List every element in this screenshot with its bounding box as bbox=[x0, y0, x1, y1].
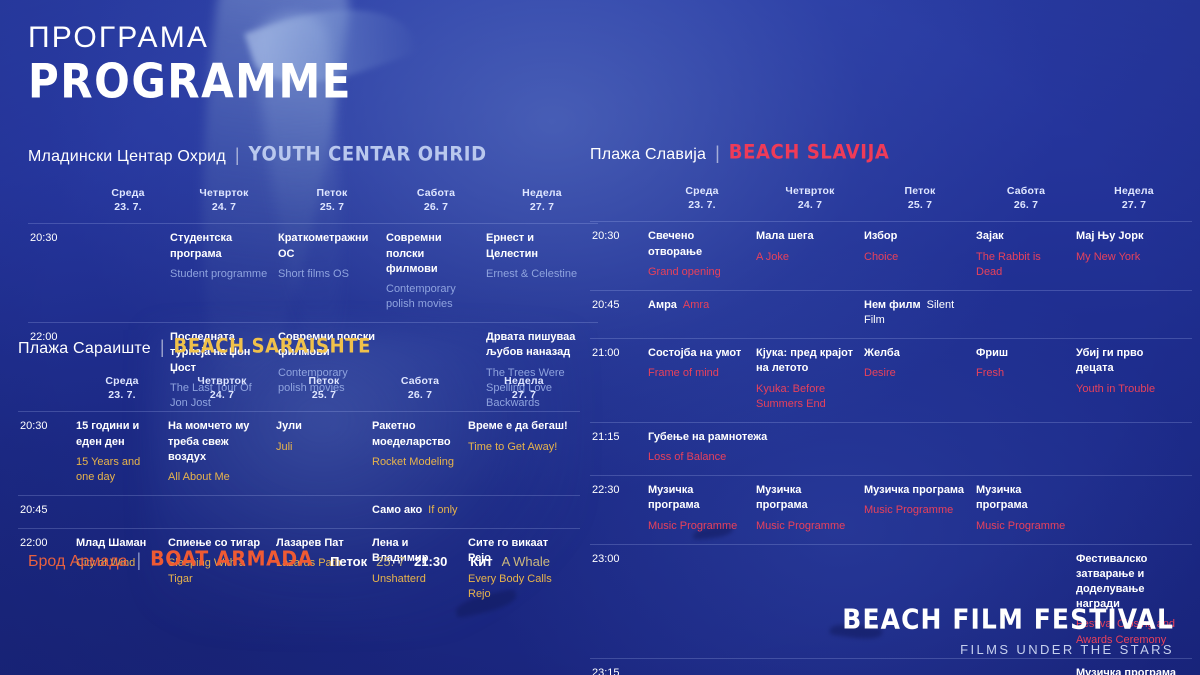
film-title-en: Short films OS bbox=[278, 267, 376, 282]
film-title-en: Music Programme bbox=[864, 503, 966, 518]
schedule-row: 20:3015 години и еден ден15 Years and on… bbox=[18, 412, 580, 496]
film-title-en: Every Body Calls Rejo bbox=[468, 572, 570, 602]
schedule-row: 20:30Студентска програмаStudent programm… bbox=[28, 224, 598, 323]
schedule-header-row: Среда23. 7.Четврток24. 7Петок25. 7Сабота… bbox=[590, 184, 1192, 222]
schedule-cell: ЗајакThe Rabbit is Dead bbox=[976, 222, 1076, 291]
schedule-cell: На момчето му треба свеж воздухAll About… bbox=[168, 412, 276, 496]
schedule-cell: Студентска програмаStudent programme bbox=[170, 224, 278, 323]
schedule-cell bbox=[756, 290, 864, 338]
schedule-time: 20:30 bbox=[590, 222, 648, 291]
day-date: 23. 7. bbox=[648, 198, 756, 212]
film-title-mk: Музичка програма bbox=[648, 483, 746, 513]
day-name: Петок bbox=[276, 374, 372, 388]
schedule-cell: Свечено отворањеGrand opening bbox=[648, 222, 756, 291]
film-title-mk: Ракетно моеделарство bbox=[372, 419, 458, 449]
page-title-mk: ПРОГРАМА bbox=[28, 22, 352, 54]
film-title-en: Ernest & Celestine bbox=[486, 267, 588, 282]
schedule-cell: 15 години и еден ден15 Years and one day bbox=[76, 412, 168, 496]
film-title-en: Juli bbox=[276, 440, 362, 455]
schedule-time: 23:00 bbox=[590, 544, 648, 658]
schedule-header-row: Среда23. 7.Четврток24. 7Петок25. 7Сабота… bbox=[18, 374, 580, 412]
schedule-cell bbox=[1076, 476, 1192, 545]
schedule-cell: Музичка програмаMusic Programme bbox=[1076, 658, 1192, 675]
day-date: 27. 7 bbox=[468, 388, 580, 402]
film-title-mk: Избор bbox=[864, 229, 966, 244]
venue-name-mk: Плажа Сараиште bbox=[18, 340, 151, 358]
day-date: 26. 7 bbox=[386, 200, 486, 214]
day-name: Среда bbox=[76, 374, 168, 388]
film-title-mk: Совремни полски филмови bbox=[386, 231, 476, 277]
schedule-time: 20:45 bbox=[590, 290, 648, 338]
film-title-en: Loss of Balance bbox=[648, 450, 1182, 465]
day-name: Четврток bbox=[170, 186, 278, 200]
schedule-header-row: Среда23. 7.Четврток24. 7Петок25. 7Сабота… bbox=[28, 186, 598, 224]
column-header-day: Среда23. 7. bbox=[648, 184, 756, 222]
schedule-cell: Ракетно моеделарствоRocket Modeling bbox=[372, 412, 468, 496]
column-header-day: Петок25. 7 bbox=[278, 186, 386, 224]
schedule-cell: ИзборChoice bbox=[864, 222, 976, 291]
column-header-day: Петок25. 7 bbox=[864, 184, 976, 222]
day-date: 26. 7 bbox=[976, 198, 1076, 212]
festival-logo: BEACH FILM FESTIVAL FILMS UNDER THE STAR… bbox=[842, 606, 1174, 657]
film-title-en: Music Programme bbox=[648, 519, 746, 534]
venue-name-en: BEACH SARAISHTE bbox=[174, 335, 371, 358]
schedule-row: 22:30Музичка програмаMusic ProgrammeМузи… bbox=[590, 476, 1192, 545]
column-header-day: Среда23. 7. bbox=[76, 374, 168, 412]
schedule-time: 23:15 bbox=[590, 658, 648, 675]
film-title-en: 15 Years and one day bbox=[76, 455, 158, 485]
schedule-time: 21:15 bbox=[590, 422, 648, 475]
schedule-cell bbox=[86, 224, 170, 323]
venue-name-en: YOUTH CENTAR OHRID bbox=[249, 143, 487, 166]
column-header-day: Сабота26. 7 bbox=[372, 374, 468, 412]
day-name: Недела bbox=[1076, 184, 1192, 198]
film-title-mk: Желба bbox=[864, 346, 966, 361]
day-date: 26. 7 bbox=[372, 388, 468, 402]
boat-armada-line: Брод Армада | BOAT ARMADA Петок 25. 7 21… bbox=[28, 549, 550, 571]
column-header-day: Недела27. 7 bbox=[486, 186, 598, 224]
column-header-time bbox=[18, 374, 76, 412]
film-title-mk: Амра bbox=[648, 299, 677, 311]
film-title-mk: Зајак bbox=[976, 229, 1066, 244]
schedule-cell: Време е да бегаш!Time to Get Away! bbox=[468, 412, 580, 496]
film-title-mk: Нем филм bbox=[864, 299, 921, 311]
venue-heading-slavija: Плажа Славија|BEACH SLAVIJA bbox=[590, 143, 1178, 164]
day-date: 24. 7 bbox=[168, 388, 276, 402]
film-title-en: Desire bbox=[864, 366, 966, 381]
boat-date: 25. 7 bbox=[376, 554, 405, 569]
page-title-en: PROGRAMME bbox=[28, 56, 352, 107]
film-title-mk: Губење на рамнотежа bbox=[648, 430, 1182, 445]
boat-time: 21:30 bbox=[414, 554, 447, 569]
film-title-mk: 15 години и еден ден bbox=[76, 419, 158, 449]
venue-block-beach-slavija: Плажа Славија|BEACH SLAVIJAСреда23. 7.Че… bbox=[590, 143, 1178, 675]
venue-name-mk: Младински Центар Охрид bbox=[28, 148, 226, 166]
film-title-en: Fresh bbox=[976, 366, 1066, 381]
schedule-cell bbox=[648, 658, 756, 675]
film-title-mk: Јули bbox=[276, 419, 362, 434]
schedule-cell bbox=[468, 496, 580, 529]
film-title-mk: Фриш bbox=[976, 346, 1066, 361]
venue-name-mk: Плажа Славија bbox=[590, 146, 706, 164]
schedule-row: 20:30Свечено отворањеGrand openingМала ш… bbox=[590, 222, 1192, 291]
film-title-en: The Rabbit is Dead bbox=[976, 250, 1066, 280]
film-title-en: Kyuka: Before Summers End bbox=[756, 382, 854, 412]
film-title-en: Time to Get Away! bbox=[468, 440, 570, 455]
schedule-cell bbox=[76, 496, 168, 529]
film-title-mk: Музичка програма bbox=[864, 483, 966, 498]
schedule-cell: Мај Њу ЈоркMy New York bbox=[1076, 222, 1192, 291]
schedule-cell: ЖелбаDesire bbox=[864, 339, 976, 423]
schedule-cell: Музичка програмаMusic Programme bbox=[648, 476, 756, 545]
schedule-time: 21:00 bbox=[590, 339, 648, 423]
film-title-en: My New York bbox=[1076, 250, 1182, 265]
film-title-en: Music Programme bbox=[756, 519, 854, 534]
film-title-en: Choice bbox=[864, 250, 966, 265]
film-title-en: Grand opening bbox=[648, 265, 746, 280]
film-title-mk: Кјука: пред крајот на летото bbox=[756, 346, 854, 376]
schedule-cell bbox=[756, 658, 864, 675]
festival-logo-title: BEACH FILM FESTIVAL bbox=[842, 603, 1174, 635]
column-header-day: Сабота26. 7 bbox=[976, 184, 1076, 222]
page-header: ПРОГРАМА PROGRAMME bbox=[28, 22, 352, 101]
film-title-en: Student programme bbox=[170, 267, 268, 282]
schedule-cell bbox=[976, 658, 1076, 675]
venue-separator: | bbox=[160, 337, 165, 358]
column-header-time bbox=[28, 186, 86, 224]
film-title-en: A Joke bbox=[756, 250, 854, 265]
schedule-row: 21:00Состојба на умотFrame of mindКјука:… bbox=[590, 339, 1192, 423]
boat-day: Петок bbox=[330, 554, 367, 569]
schedule-cell: Само акоIf only bbox=[372, 496, 468, 529]
schedule-time: 20:30 bbox=[18, 412, 76, 496]
boat-name-en: BOAT ARMADA bbox=[150, 547, 313, 571]
day-date: 24. 7 bbox=[170, 200, 278, 214]
schedule-cell: Мала шегаA Joke bbox=[756, 222, 864, 291]
day-name: Среда bbox=[648, 184, 756, 198]
schedule-cell: Ернест и ЦелестинErnest & Celestine bbox=[486, 224, 598, 323]
film-title-mk: Музичка програма bbox=[976, 483, 1066, 513]
programme-poster: ПРОГРАМА PROGRAMME Младински Центар Охри… bbox=[0, 0, 1200, 675]
column-header-day: Четврток24. 7 bbox=[756, 184, 864, 222]
column-header-day: Четврток24. 7 bbox=[168, 374, 276, 412]
film-title-en: Amra bbox=[683, 299, 709, 311]
film-title-mk: Мај Њу Јорк bbox=[1076, 229, 1182, 244]
column-header-day: Четврток24. 7 bbox=[170, 186, 278, 224]
film-title-mk: Музичка програма bbox=[756, 483, 854, 513]
boat-name-mk: Брод Армада bbox=[28, 553, 127, 571]
day-name: Сабота bbox=[976, 184, 1076, 198]
schedule-cell bbox=[864, 658, 976, 675]
film-title-mk: Студентска програма bbox=[170, 231, 268, 261]
day-name: Недела bbox=[468, 374, 580, 388]
schedule-cell: ЈулиJuli bbox=[276, 412, 372, 496]
boat-film-en: A Whale bbox=[502, 554, 550, 569]
venue-separator: | bbox=[715, 143, 720, 164]
film-title-mk: Мала шега bbox=[756, 229, 854, 244]
film-title-en: All About Me bbox=[168, 470, 266, 485]
film-title-mk: Краткометражни ОС bbox=[278, 231, 376, 261]
venue-heading-youth: Младински Центар Охрид|YOUTH CENTAR OHRI… bbox=[28, 145, 580, 166]
film-title-mk: Состојба на умот bbox=[648, 346, 746, 361]
column-header-day: Сабота26. 7 bbox=[386, 186, 486, 224]
schedule-cell: Кјука: пред крајот на летотоKyuka: Befor… bbox=[756, 339, 864, 423]
day-date: 25. 7 bbox=[276, 388, 372, 402]
venue-separator: | bbox=[235, 145, 240, 166]
venue-heading-saraishte: Плажа Сараиште|BEACH SARAISHTE bbox=[18, 337, 580, 358]
boat-separator: | bbox=[136, 550, 141, 571]
schedule-cell: Убиј ги прво децатаYouth in Trouble bbox=[1076, 339, 1192, 423]
day-date: 25. 7 bbox=[864, 198, 976, 212]
schedule-cell bbox=[168, 496, 276, 529]
day-name: Сабота bbox=[386, 186, 486, 200]
day-name: Петок bbox=[278, 186, 386, 200]
film-title-mk: Време е да бегаш! bbox=[468, 419, 570, 434]
schedule-cell bbox=[976, 290, 1076, 338]
column-header-day: Недела27. 7 bbox=[1076, 184, 1192, 222]
film-title-mk: Свечено отворање bbox=[648, 229, 746, 259]
film-title-en: Rocket Modeling bbox=[372, 455, 458, 470]
schedule-cell: Состојба на умотFrame of mind bbox=[648, 339, 756, 423]
film-title-mk: На момчето му треба свеж воздух bbox=[168, 419, 266, 465]
boat-film-mk: Кит bbox=[470, 554, 492, 569]
schedule-time: 22:30 bbox=[590, 476, 648, 545]
film-title-mk: Само ако bbox=[372, 504, 422, 516]
film-title-en: Youth in Trouble bbox=[1076, 382, 1182, 397]
schedule-table-saraishte: Среда23. 7.Четврток24. 7Петок25. 7Сабота… bbox=[18, 374, 580, 612]
film-title-en: Music Programme bbox=[976, 519, 1066, 534]
column-header-day: Недела27. 7 bbox=[468, 374, 580, 412]
schedule-cell bbox=[648, 544, 756, 658]
day-date: 23. 7. bbox=[86, 200, 170, 214]
film-title-mk: Убиј ги прво децата bbox=[1076, 346, 1182, 376]
film-title-en: Frame of mind bbox=[648, 366, 746, 381]
schedule-time: 20:30 bbox=[28, 224, 86, 323]
day-date: 25. 7 bbox=[278, 200, 386, 214]
schedule-row: 20:45АмраAmraНем филмSilent Film bbox=[590, 290, 1192, 338]
schedule-table-slavija: Среда23. 7.Четврток24. 7Петок25. 7Сабота… bbox=[590, 184, 1192, 675]
schedule-cell: ФришFresh bbox=[976, 339, 1076, 423]
schedule-time: 20:45 bbox=[18, 496, 76, 529]
venue-name-en: BEACH SLAVIJA bbox=[729, 141, 890, 164]
film-title-en: Unshatterd bbox=[372, 572, 458, 587]
day-date: 24. 7 bbox=[756, 198, 864, 212]
schedule-row: 21:15Губење на рамнотежаLoss of Balance bbox=[590, 422, 1192, 475]
schedule-cell: Совремни полски филмовиContemporary poli… bbox=[386, 224, 486, 323]
day-name: Среда bbox=[86, 186, 170, 200]
day-name: Сабота bbox=[372, 374, 468, 388]
column-header-time bbox=[590, 184, 648, 222]
schedule-cell: Музичка програмаMusic Programme bbox=[864, 476, 976, 545]
film-title-mk: Ернест и Целестин bbox=[486, 231, 588, 261]
column-header-day: Среда23. 7. bbox=[86, 186, 170, 224]
column-header-day: Петок25. 7 bbox=[276, 374, 372, 412]
film-title-en: If only bbox=[428, 504, 457, 516]
schedule-cell: Нем филмSilent Film bbox=[864, 290, 976, 338]
schedule-row: 20:45Само акоIf only bbox=[18, 496, 580, 529]
schedule-row: 23:15Музичка програмаMusic Programme bbox=[590, 658, 1192, 675]
schedule-cell: Губење на рамнотежаLoss of Balance bbox=[648, 422, 1192, 475]
day-date: 27. 7 bbox=[486, 200, 598, 214]
schedule-cell: АмраAmra bbox=[648, 290, 756, 338]
day-date: 23. 7. bbox=[76, 388, 168, 402]
schedule-cell: Краткометражни ОСShort films OS bbox=[278, 224, 386, 323]
festival-logo-tagline: FILMS UNDER THE STARS bbox=[842, 642, 1174, 657]
day-name: Четврток bbox=[756, 184, 864, 198]
day-name: Петок bbox=[864, 184, 976, 198]
day-name: Недела bbox=[486, 186, 598, 200]
film-title-mk: Музичка програма bbox=[1076, 666, 1182, 675]
film-title-en: Contemporary polish movies bbox=[386, 282, 476, 312]
schedule-cell: Музичка програмаMusic Programme bbox=[756, 476, 864, 545]
schedule-cell bbox=[276, 496, 372, 529]
schedule-cell: Музичка програмаMusic Programme bbox=[976, 476, 1076, 545]
day-date: 27. 7 bbox=[1076, 198, 1192, 212]
day-name: Четврток bbox=[168, 374, 276, 388]
schedule-cell bbox=[1076, 290, 1192, 338]
